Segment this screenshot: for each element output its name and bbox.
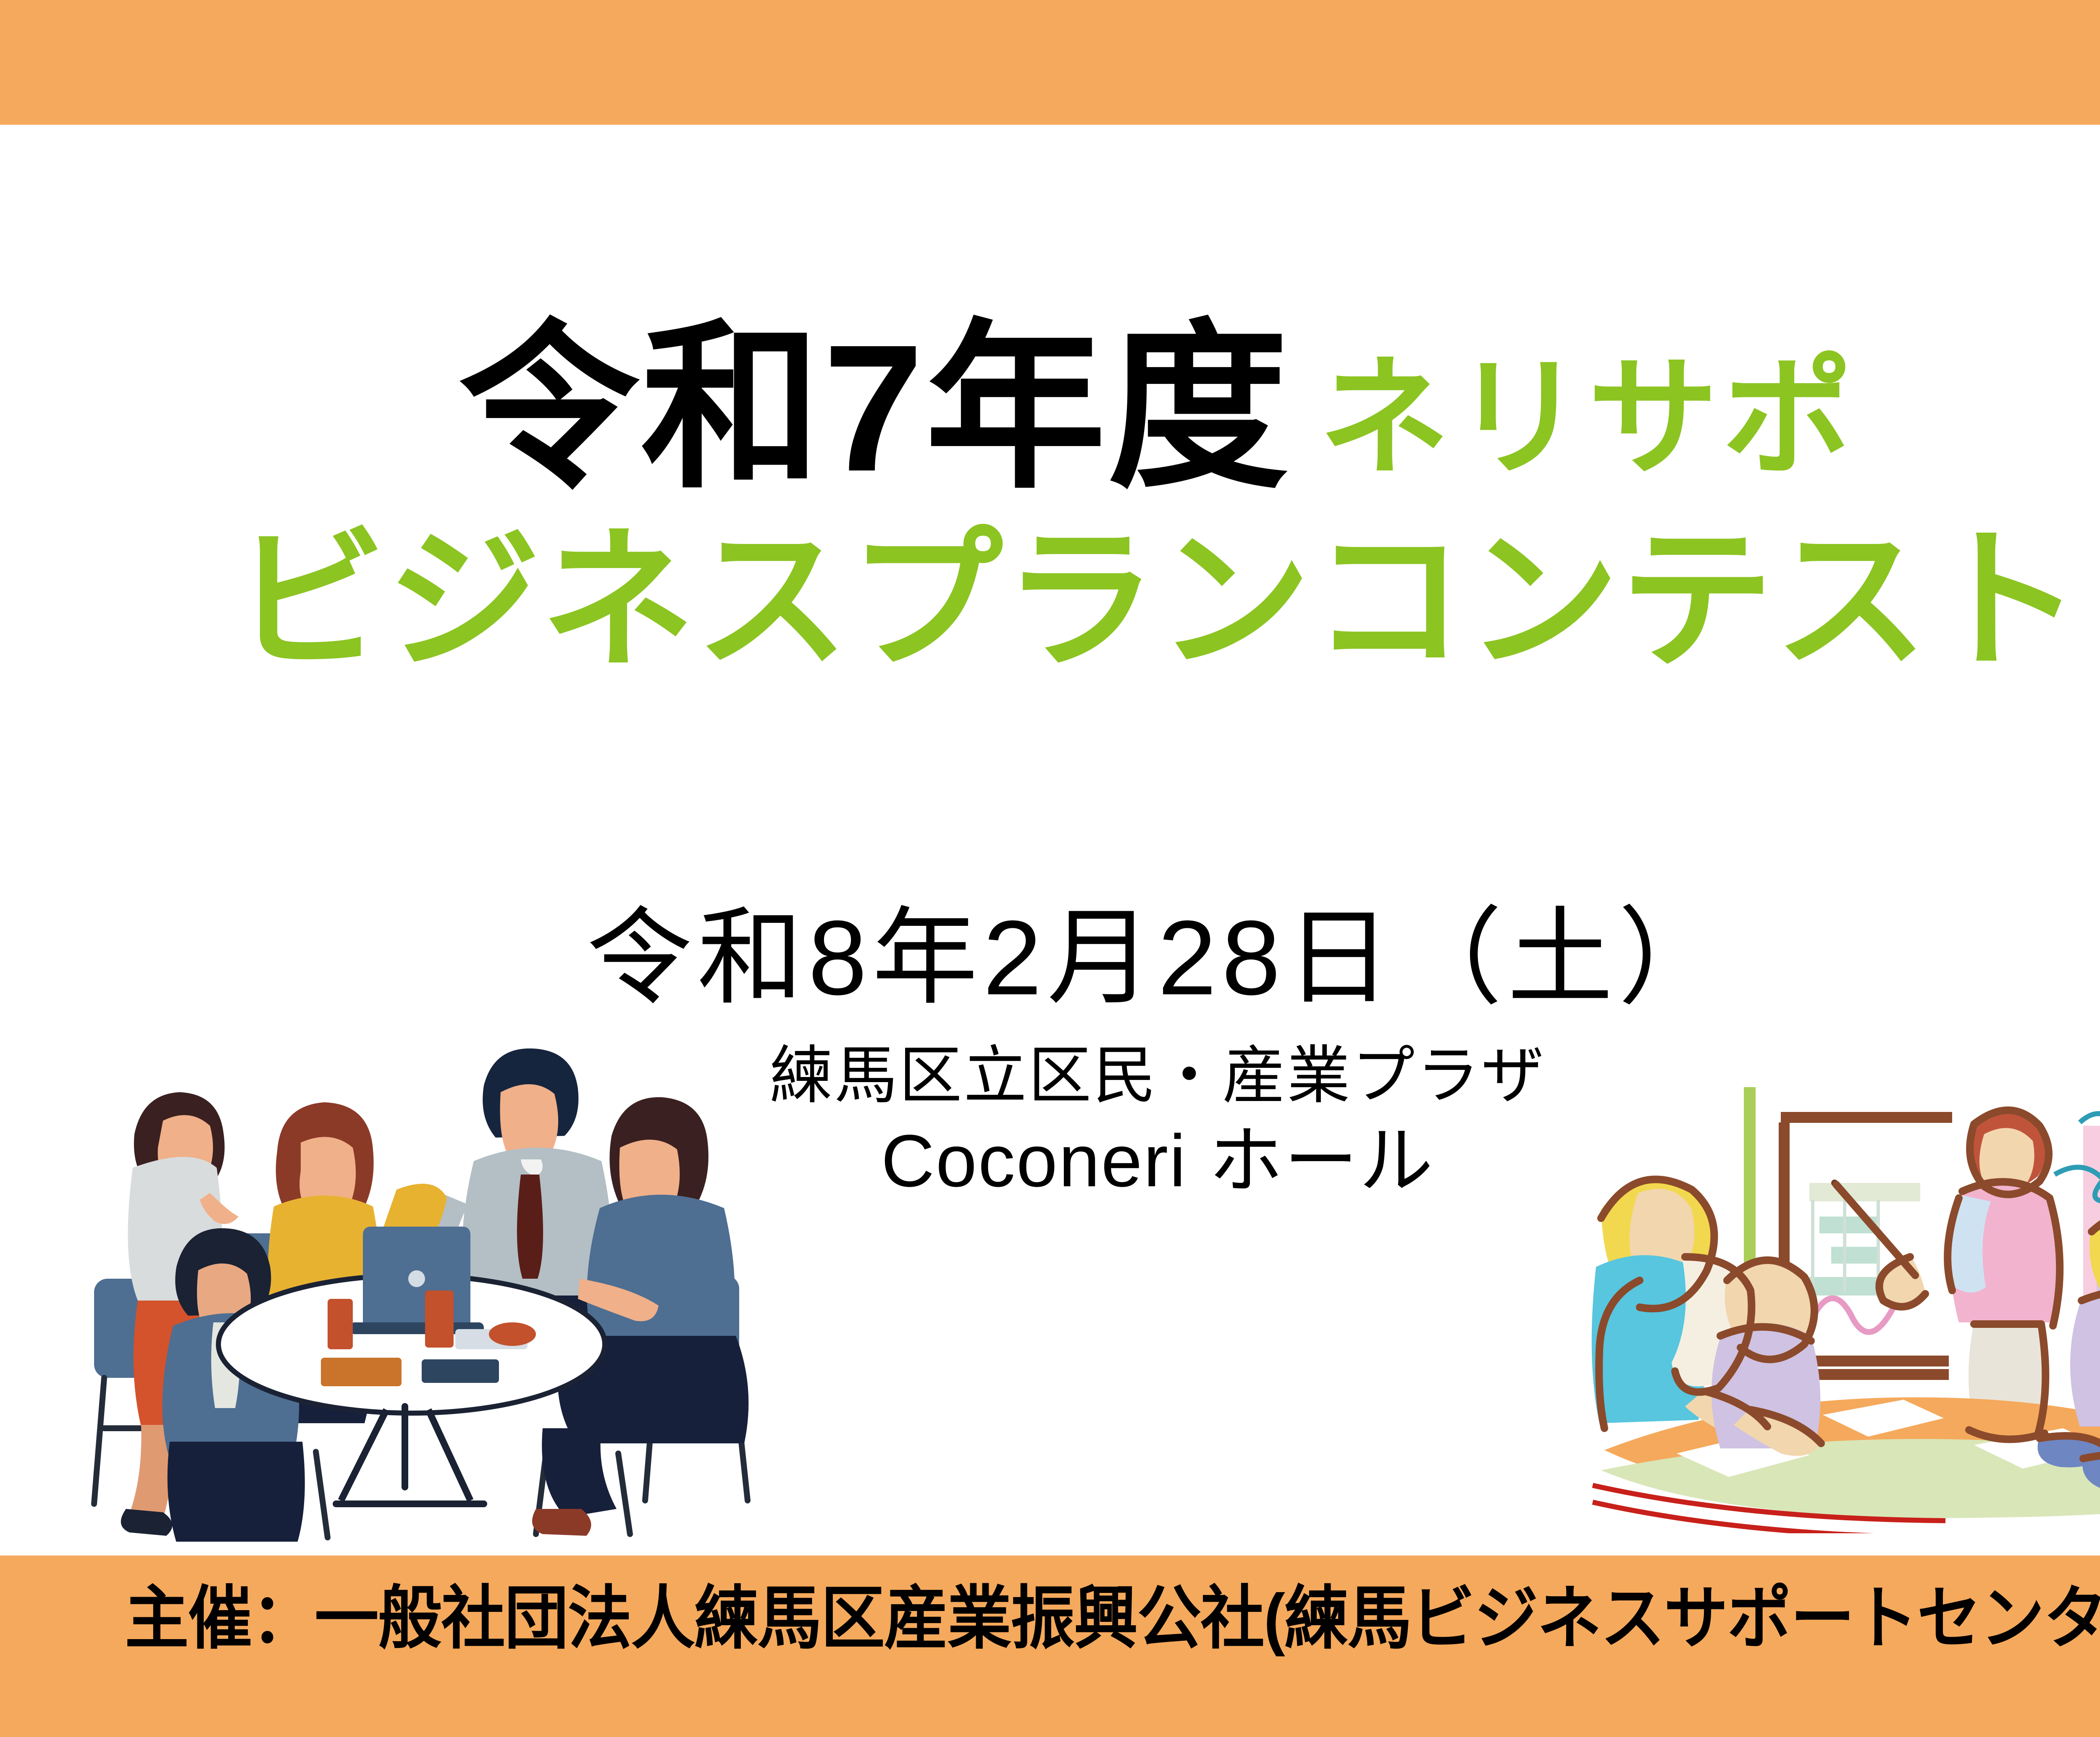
event-info: 令和8年2月28日（土） 練馬区立区民・産業プラザ Coconeri ホール (0, 899, 2100, 1204)
title-fiscal-year: 令和7年度 (459, 311, 1290, 506)
event-date: 令和8年2月28日（土） (0, 899, 2100, 1017)
title-line-2-contest-name: ビジネスプランコンテスト (0, 520, 2100, 683)
organizer-credit: 主催：一般社団法人練馬区産業振興公社(練馬ビジネスサポートセンター) (125, 1581, 2100, 1656)
title-brand-nerisapo: ネリサポ (1319, 348, 1857, 489)
poster-root: 令和7年度 ネリサポ ビジネスプランコンテスト 令和8年2月28日（土） 練馬区… (0, 0, 2100, 1737)
title-line-1: 令和7年度 ネリサポ (0, 311, 2100, 506)
bottom-orange-banner: 主催：一般社団法人練馬区産業振興公社(練馬ビジネスサポートセンター) (0, 1556, 2100, 1737)
venue-name: 練馬区立区民・産業プラザ (0, 1039, 2100, 1112)
venue-hall: Coconeri ホール (0, 1119, 2100, 1204)
poster-title: 令和7年度 ネリサポ ビジネスプランコンテスト (0, 311, 2100, 683)
top-orange-banner (0, 0, 2100, 125)
